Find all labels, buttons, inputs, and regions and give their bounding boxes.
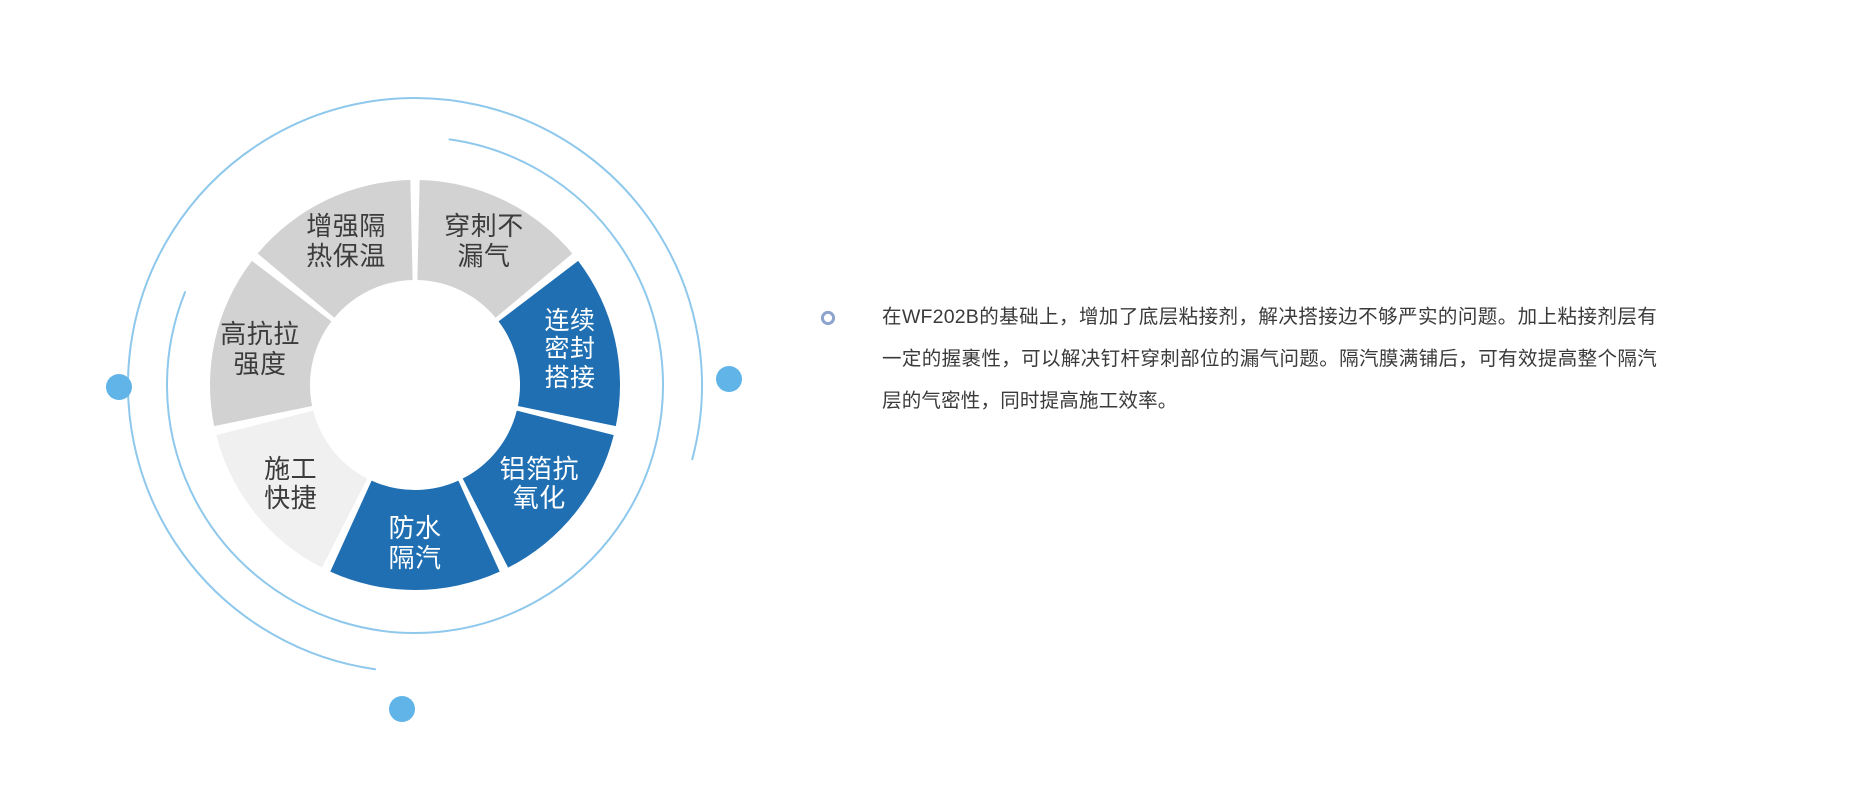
feature-wheel-diagram: 穿刺不 漏气连续 密封 搭接铝箔抗 氧化防水 隔汽施工 快捷高抗拉 强度增强隔 … [0,0,840,787]
description-paragraph: 在WF202B的基础上，增加了底层粘接剂，解决搭接边不够严实的问题。加上粘接剂层… [882,296,1657,422]
page-root: 穿刺不 漏气连续 密封 搭接铝箔抗 氧化防水 隔汽施工 快捷高抗拉 强度增强隔 … [0,0,1859,787]
donut-segments-group [210,180,620,590]
circle-ring-icon [820,310,836,326]
description-text: 在WF202B的基础上，增加了底层粘接剂，解决搭接边不够严实的问题。加上粘接剂层… [882,296,1657,422]
wheel-svg [0,0,840,787]
decorative-dot-right [716,366,742,392]
decorative-dot-bottom [389,696,415,722]
decorative-dot-left [106,374,132,400]
description-block: 在WF202B的基础上，增加了底层粘接剂，解决搭接边不够严实的问题。加上粘接剂层… [820,296,1820,422]
